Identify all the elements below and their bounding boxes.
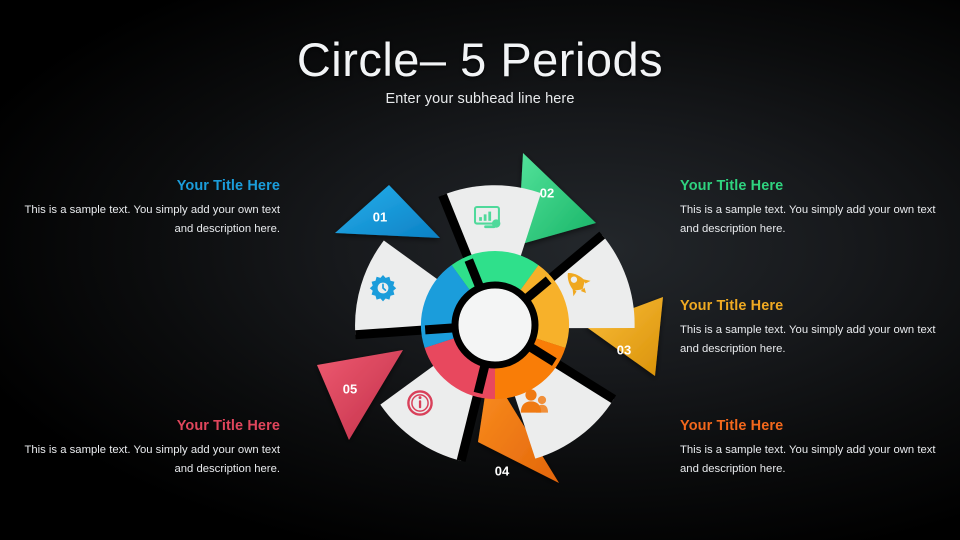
pinwheel-diagram: 01 02 03 04 05 <box>315 145 675 505</box>
info-circle-icon <box>408 391 431 414</box>
text-block-01-body: This is a sample text. You simply add yo… <box>20 201 280 240</box>
segment-number-04: 04 <box>495 463 510 478</box>
text-block-05-title: Your Title Here <box>20 418 280 434</box>
slide-canvas: Circle– 5 Periods Enter your subhead lin… <box>0 0 960 540</box>
text-block-02-body: This is a sample text. You simply add yo… <box>680 201 940 240</box>
text-block-03-body: This is a sample text. You simply add yo… <box>680 321 940 360</box>
text-block-03-title: Your Title Here <box>680 298 940 314</box>
text-block-02[interactable]: Your Title Here This is a sample text. Y… <box>680 178 940 240</box>
text-block-02-title: Your Title Here <box>680 178 940 194</box>
page-subtitle: Enter your subhead line here <box>0 91 960 107</box>
page-title: Circle– 5 Periods <box>0 32 960 87</box>
segment-number-01: 01 <box>373 209 387 224</box>
arrow-tip-05[interactable] <box>317 350 403 440</box>
text-block-05-body: This is a sample text. You simply add yo… <box>20 441 280 480</box>
text-block-04-title: Your Title Here <box>680 418 940 434</box>
segment-number-02: 02 <box>540 185 554 200</box>
text-block-01-title: Your Title Here <box>20 178 280 194</box>
text-block-03[interactable]: Your Title Here This is a sample text. Y… <box>680 298 940 360</box>
center-hub[interactable] <box>455 285 535 365</box>
text-block-04[interactable]: Your Title Here This is a sample text. Y… <box>680 418 940 480</box>
text-block-01[interactable]: Your Title Here This is a sample text. Y… <box>20 178 280 240</box>
text-block-05[interactable]: Your Title Here This is a sample text. Y… <box>20 418 280 480</box>
arrow-tip-01[interactable] <box>335 185 440 238</box>
segment-number-05: 05 <box>343 381 357 396</box>
segment-number-03: 03 <box>617 342 631 357</box>
text-block-04-body: This is a sample text. You simply add yo… <box>680 441 940 480</box>
